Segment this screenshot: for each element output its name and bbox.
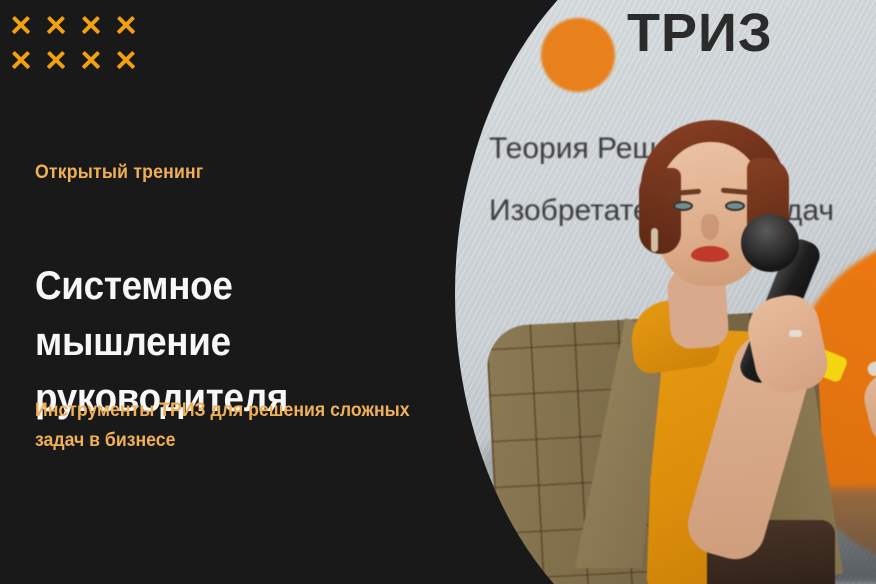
eye-left [673,201,693,211]
ring [789,330,802,337]
training-poster: ТРИЗ Теория Решения Изобретательских Зад… [0,0,876,584]
speaker-photo: ТРИЗ Теория Решения Изобретательских Зад… [455,0,876,584]
hair-strand-left [639,168,681,254]
speaker-figure [455,0,876,584]
eyebrow-label: Открытый тренинг [35,162,203,184]
hand-right [859,366,876,451]
lips [691,246,729,262]
bracelet [866,352,876,378]
text-column: Открытый тренинг Системное мышление руко… [35,0,465,584]
eye-right [725,201,745,211]
nose [701,214,719,240]
earring-left [651,228,658,252]
subtitle: Инструменты ТРИЗ для решения сложных зад… [35,396,426,456]
